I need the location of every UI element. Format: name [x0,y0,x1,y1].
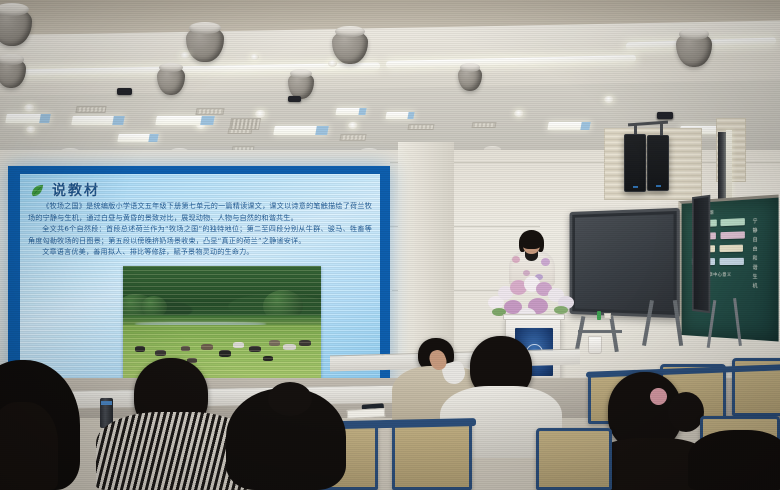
blackboard-card [720,218,744,226]
hair-bun [268,382,312,416]
cow [219,350,231,357]
paper-cup [588,336,602,354]
ceiling-vent [75,106,106,113]
secondary-display-panel[interactable] [692,195,710,313]
panel-light [547,122,590,130]
cone-speaker-icon [0,58,26,88]
recessed-downlight [514,110,524,117]
seat[interactable] [536,428,612,490]
recessed-downlight [180,52,190,59]
recessed-downlight [255,110,266,118]
speaker-led [656,185,661,187]
slide-paragraph: 全文共6个自然段：首段总述荷兰作为“牧场之国”的独特地位；第二至四段分别从牛群、… [28,223,372,246]
flower-leaf [554,306,568,314]
wall-pillar [398,142,454,366]
cow [269,340,280,346]
cow [233,342,244,348]
speaker-led [633,186,638,188]
blouse-floral-print [512,256,520,263]
cow [283,344,296,350]
hair-scrunchie [650,388,667,405]
cow [135,346,145,352]
thermos-cap [101,401,112,405]
recessed-downlight [348,122,358,129]
recessed-downlight [24,104,35,112]
marker-pen [597,311,601,320]
recessed-downlight [250,54,259,60]
cow [249,346,261,352]
pa-speaker-icon [647,135,669,191]
panel-light [71,116,125,125]
presenter-hair [520,230,543,249]
cone-speaker-icon [157,66,185,95]
ceiling-sensor-icon [657,112,673,119]
leaf-icon [30,183,45,198]
whiteboard-stand-crossbar [578,330,622,333]
attendee-left-hair-strand [0,402,58,490]
lecture-hall-photo: 课题 宁静 自由 和谐 生机 文章中心意义 [0,0,780,490]
ceiling-vent [229,118,261,130]
ceiling-vent [339,134,366,141]
recessed-downlight [328,60,337,67]
panel-light [385,112,414,119]
hair-bun [668,392,704,432]
blackboard-card [720,245,743,252]
slide-header: 说教材 [30,180,100,200]
ceiling-vent [195,108,224,115]
lectern-top [503,314,565,320]
ceiling-vent [471,122,496,128]
recessed-downlight [604,96,614,103]
blackboard-card [720,258,744,265]
panel-light [155,116,215,125]
ceiling-vent [407,124,434,130]
attendee-far-right [688,430,780,490]
seat[interactable] [392,420,472,490]
cow [155,350,166,356]
recessed-downlight [26,126,36,133]
blackboard-side-text: 宁静 自由 和谐 生机 [753,217,763,292]
slide-paragraph: 《牧场之国》是统编版小学语文五年级下册第七单元的一篇精读课文，课文以诗意的笔触描… [28,200,372,223]
presentation-slide: 说教材 《牧场之国》是统编版小学语文五年级下册第七单元的一篇精读课文，课文以诗意… [20,174,380,386]
pa-speaker-icon [624,134,646,192]
eraser [604,313,611,319]
cow [299,340,311,346]
ceiling-sensor-icon [117,88,132,95]
panel-light [5,114,51,123]
slide-title: 说教材 [52,180,100,200]
interactive-whiteboard[interactable] [570,208,680,318]
blouse-floral-print [541,258,550,266]
panel-light [117,134,158,142]
slide-paragraph: 文章语言优美，善用拟人、排比等修辞，赋予景物灵动的生命力。 [28,246,372,258]
cow [181,346,190,351]
panel-light [335,108,366,115]
cow [201,344,213,350]
blackboard-card [720,231,744,239]
panel-light [273,126,329,135]
cow [263,356,273,361]
ceiling-sensor-icon [288,96,301,102]
slide-body-text: 《牧场之国》是统编版小学语文五年级下册第七单元的一篇精读课文，课文以诗意的笔触描… [28,200,372,258]
whiteboard-screen[interactable] [575,214,674,311]
